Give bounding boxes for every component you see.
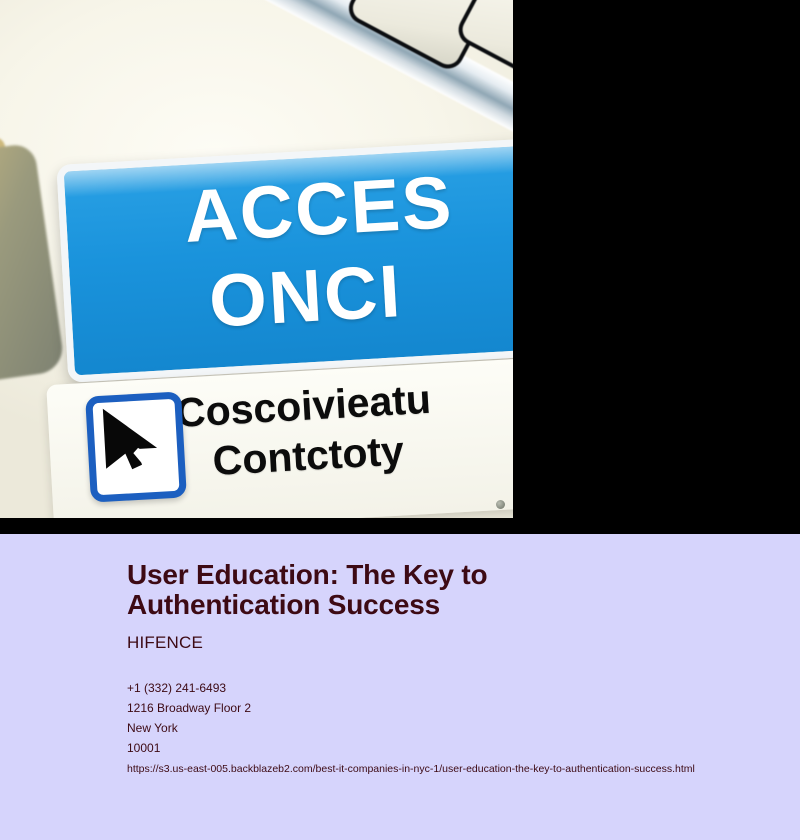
- plate-text-line-2: Contctoty: [211, 423, 405, 488]
- hero-photo: ACCES ONCI Coscoivieatu Contctoty: [0, 0, 513, 518]
- media-band: ACCES ONCI Coscoivieatu Contctoty: [0, 0, 800, 534]
- info-panel: User Education: The Key to Authenticatio…: [0, 534, 800, 840]
- source-url-link[interactable]: https://s3.us-east-005.backblazeb2.com/b…: [127, 762, 695, 776]
- contact-postal-code: 10001: [127, 738, 251, 758]
- contact-block: +1 (332) 241-6493 1216 Broadway Floor 2 …: [127, 678, 251, 758]
- page-title: User Education: The Key to Authenticatio…: [127, 560, 597, 620]
- contact-phone[interactable]: +1 (332) 241-6493: [127, 678, 251, 698]
- contact-city: New York: [127, 718, 251, 738]
- blue-access-sign: ACCES ONCI: [56, 135, 513, 382]
- sign-text-line-1: ACCES: [182, 156, 456, 263]
- brand-name: HIFENCE: [127, 633, 203, 653]
- sign-text-line-2: ONCI: [207, 245, 405, 348]
- cursor-arrow-icon: [85, 391, 187, 502]
- contact-street: 1216 Broadway Floor 2: [127, 698, 251, 718]
- plate-screw: [496, 500, 505, 509]
